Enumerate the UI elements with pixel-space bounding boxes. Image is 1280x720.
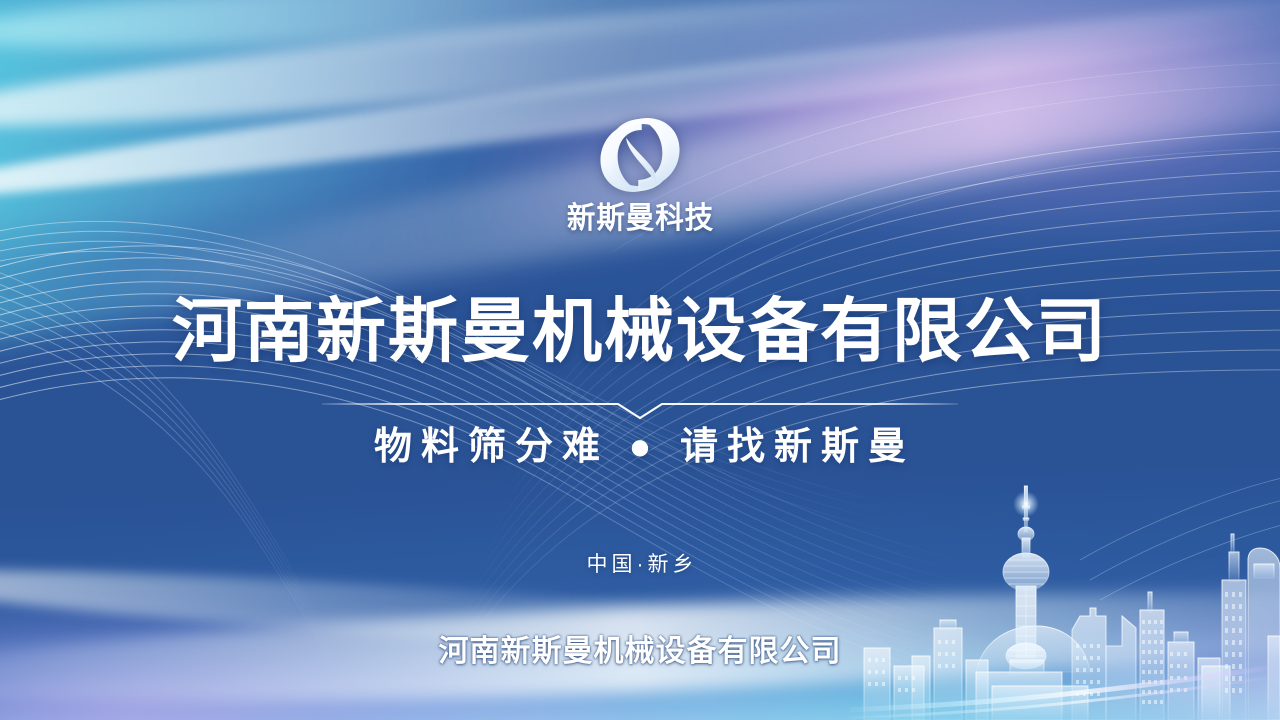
bottom-caption: 河南新斯曼机械设备有限公司 xyxy=(0,637,1280,667)
tagline: 物料筛分难 ● 请找新斯曼 xyxy=(0,428,1280,466)
location-label: 中国·新乡 xyxy=(0,554,1280,575)
logo-wordmark: 新斯曼科技 xyxy=(566,204,713,234)
slide-canvas: 新斯曼科技 河南新斯曼机械设备有限公司 xyxy=(0,0,1280,720)
slide-content: 新斯曼科技 河南新斯曼机械设备有限公司 xyxy=(0,0,1280,720)
brand-logo-block: 新斯曼科技 xyxy=(0,112,1280,234)
interlocking-s-circle-mark-icon xyxy=(588,112,692,198)
company-title: 河南新斯曼机械设备有限公司 xyxy=(0,298,1280,368)
v-notch-divider xyxy=(322,396,958,422)
